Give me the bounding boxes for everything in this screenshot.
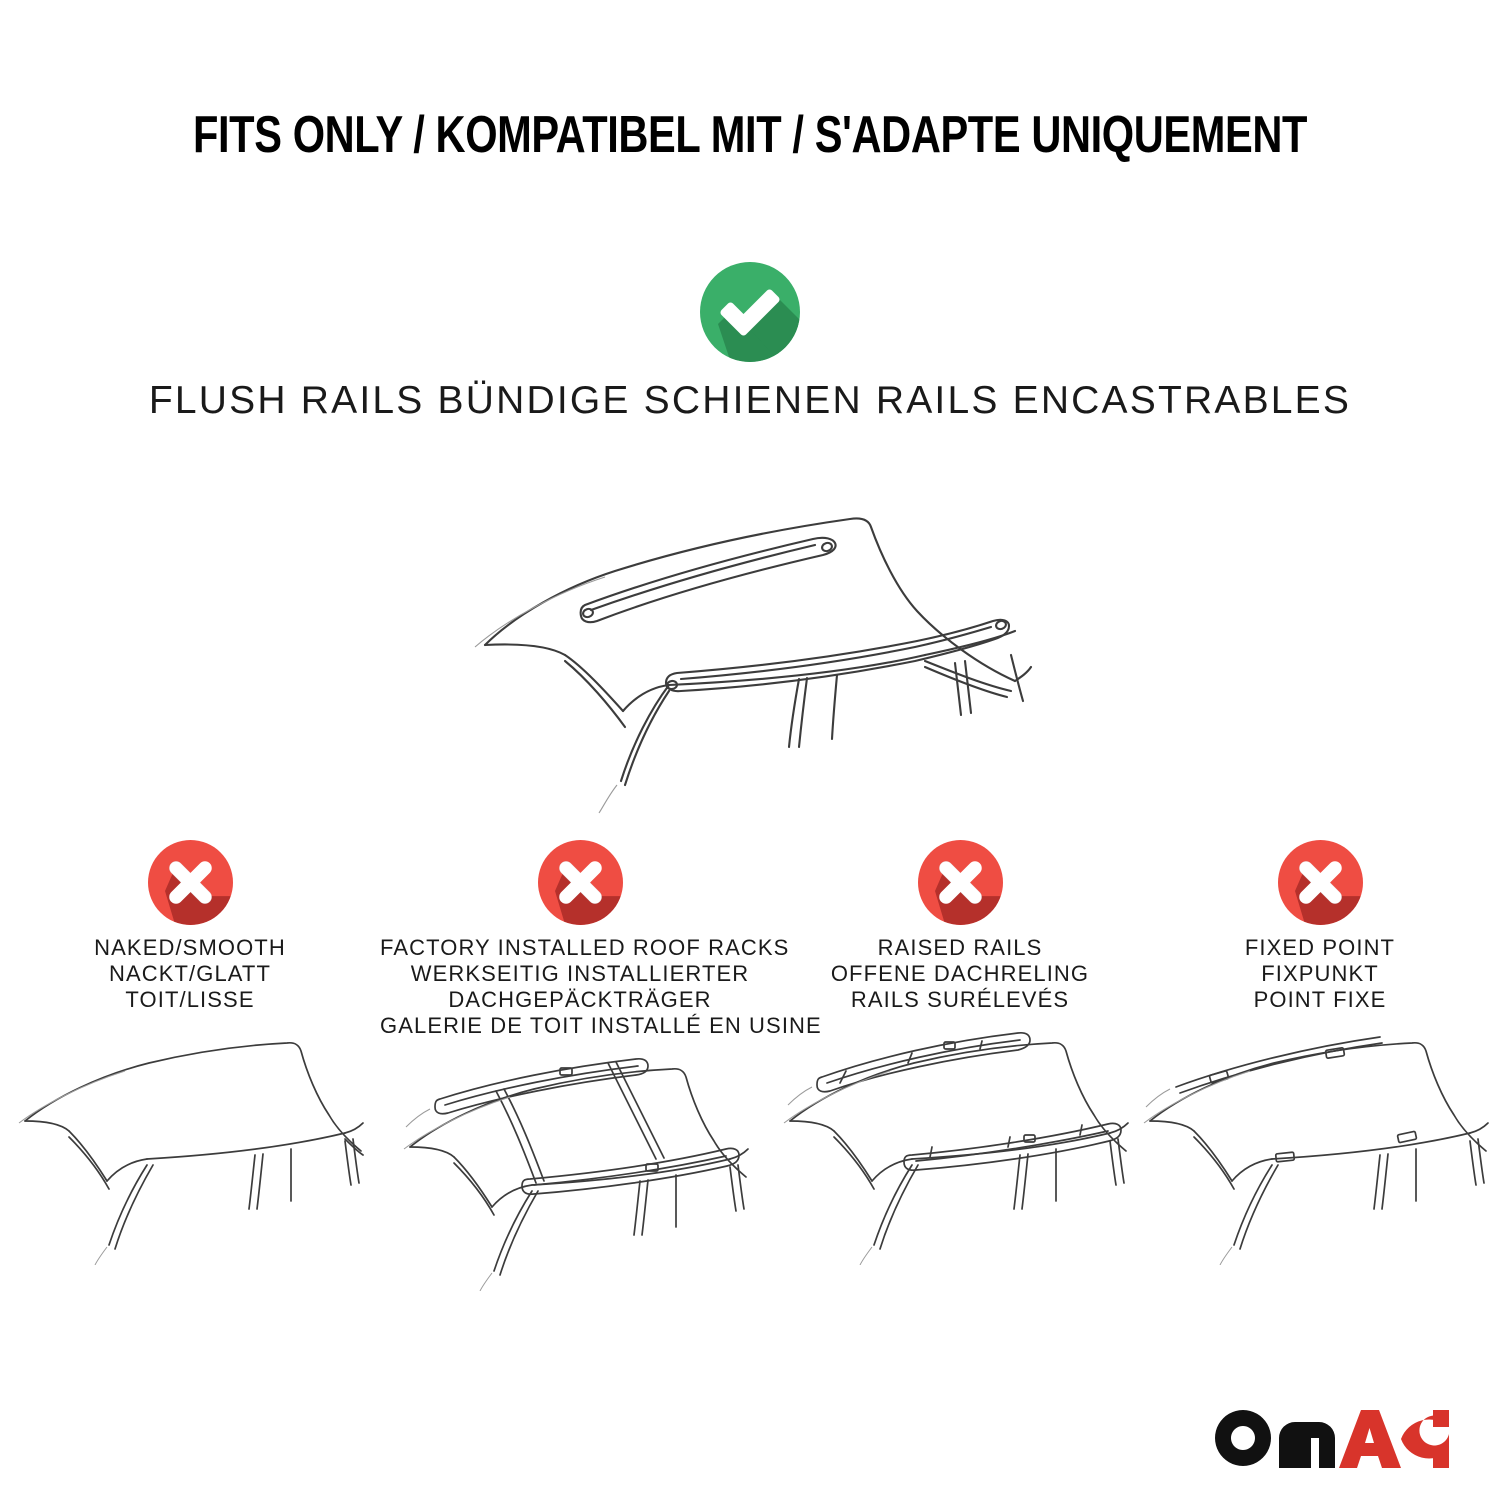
car-roof-fixed-points-illustration [1140,1025,1500,1265]
check-mark-glyph [700,262,800,362]
caption-line-de-1: WERKSEITIG INSTALLIERTER [380,961,780,987]
logo-letter-a [1339,1410,1401,1468]
incompatible-section: NAKED/SMOOTH NACKT/GLATT TOIT/LISSE [0,840,1500,1291]
x-circle-icon [148,840,233,925]
caption-line-en: FACTORY INSTALLED ROOF RACKS [380,935,780,961]
check-circle-icon [700,262,800,362]
incompatible-item-fixed-point: FIXED POINT FIXPUNKT POINT FIXE [1140,840,1500,1265]
caption-line-fr: RAILS SURÉLEVÉS [780,987,1140,1013]
logo-letter-o [1215,1410,1271,1466]
infographic-page: FITS ONLY / KOMPATIBEL MIT / S'ADAPTE UN… [0,0,1500,1500]
compatible-caption: FLUSH RAILS BÜNDIGE SCHIENEN RAILS ENCAS… [0,378,1500,423]
car-roof-with-flush-rails-illustration [455,495,1045,815]
caption-line-en: NAKED/SMOOTH [0,935,380,961]
page-title: FITS ONLY / KOMPATIBEL MIT / S'ADAPTE UN… [150,104,1350,166]
caption-line-en: RAISED RAILS [780,935,1140,961]
x-mark-glyph [1278,840,1363,925]
flush-rails-drawing [455,495,1045,815]
caption-line-fr: TOIT/LISSE [0,987,380,1013]
x-mark-glyph [538,840,623,925]
caption-line-de: NACKT/GLATT [0,961,380,987]
incompatible-caption: RAISED RAILS OFFENE DACHRELING RAILS SUR… [780,935,1140,1013]
caption-line-de: OFFENE DACHRELING [780,961,1140,987]
omac-logo [1205,1396,1455,1482]
caption-line-de: FIXPUNKT [1140,961,1500,987]
x-circle-icon [918,840,1003,925]
caption-line-fr: GALERIE DE TOIT INSTALLÉ EN USINE [380,1013,780,1039]
compatible-section: FLUSH RAILS BÜNDIGE SCHIENEN RAILS ENCAS… [0,262,1500,423]
incompatible-item-raised-rails: RAISED RAILS OFFENE DACHRELING RAILS SUR… [780,840,1140,1265]
incompatible-caption: FACTORY INSTALLED ROOF RACKS WERKSEITIG … [380,935,780,1039]
x-circle-icon [1278,840,1363,925]
incompatible-item-factory-roof-racks: FACTORY INSTALLED ROOF RACKS WERKSEITIG … [380,840,780,1291]
incompatible-caption: NAKED/SMOOTH NACKT/GLATT TOIT/LISSE [0,935,380,1013]
caption-line-de-2: DACHGEPÄCKTRÄGER [380,987,780,1013]
illustration-wrap [1140,1025,1500,1265]
logo-letter-c [1401,1410,1449,1468]
car-roof-factory-crossbars-illustration [380,1051,780,1291]
illustration-wrap [780,1025,1140,1265]
car-roof-bare-illustration [10,1025,380,1265]
x-circle-icon [538,840,623,925]
incompatible-item-naked-smooth: NAKED/SMOOTH NACKT/GLATT TOIT/LISSE [0,840,380,1265]
illustration-wrap [380,1051,780,1291]
x-mark-glyph [148,840,233,925]
compatible-line-en: FLUSH RAILS [149,379,425,422]
x-mark-glyph [918,840,1003,925]
illustration-wrap [0,1025,380,1265]
omac-logo-mark [1205,1396,1455,1482]
incompatible-caption: FIXED POINT FIXPUNKT POINT FIXE [1140,935,1500,1013]
compatible-line-de: BÜNDIGE SCHIENEN [438,379,863,422]
compatible-line-fr: RAILS ENCASTRABLES [876,379,1351,422]
car-roof-raised-rails-illustration [780,1025,1140,1265]
logo-letter-m [1279,1422,1335,1468]
caption-line-en: FIXED POINT [1140,935,1500,961]
caption-line-fr: POINT FIXE [1140,987,1500,1013]
